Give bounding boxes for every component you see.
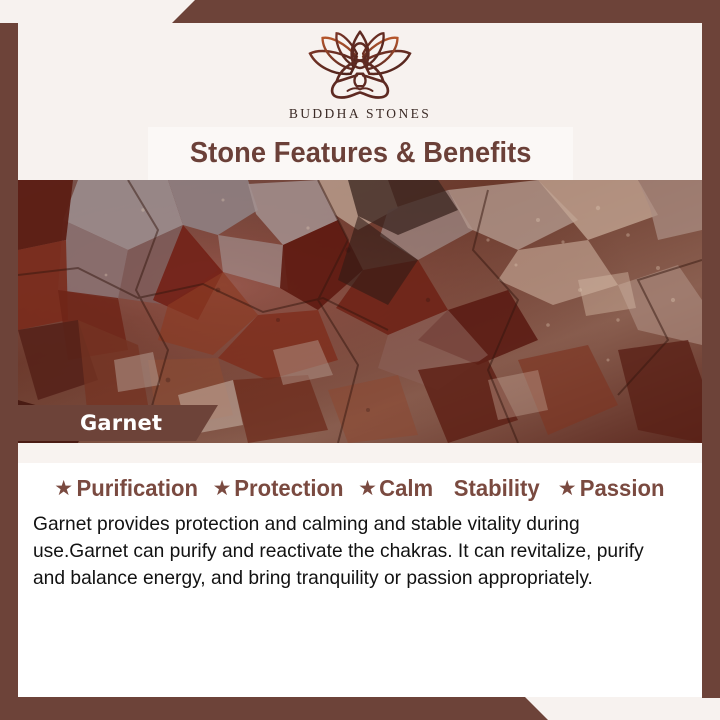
title-banner: Stone Features & Benefits	[148, 127, 573, 180]
star-icon: ★	[213, 478, 232, 499]
bottom-accent-band	[0, 697, 720, 720]
benefit-item: ★ Purification	[54, 475, 200, 502]
benefit-item: ★ Calm	[358, 475, 434, 502]
star-icon: ★	[358, 478, 377, 499]
stone-description: Garnet provides protection and calming a…	[33, 511, 679, 592]
benefit-item: ★ Protection	[213, 475, 347, 502]
left-accent-strip	[0, 23, 18, 698]
benefit-label: Purification	[77, 475, 198, 502]
benefit-item: Stability	[452, 475, 541, 502]
right-accent-strip-upper	[702, 23, 720, 180]
top-accent-band	[0, 0, 720, 23]
content-panel: ★ Purification ★ Protection ★ Calm Stabi…	[18, 443, 702, 697]
benefit-label: Stability	[454, 475, 540, 502]
stone-name-badge: Garnet	[18, 405, 218, 441]
stone-photo	[18, 180, 702, 443]
stone-name: Garnet	[80, 411, 162, 435]
brand-name: BUDDHA STONES	[289, 106, 431, 122]
infographic-page: BUDDHA STONES Stone Features & Benefits	[0, 0, 720, 720]
benefit-label: Calm	[379, 475, 433, 502]
benefit-label: Passion	[579, 475, 664, 502]
brand-logo: BUDDHA STONES	[18, 27, 702, 122]
right-accent-strip-lower	[702, 180, 720, 698]
content-top-divider	[18, 443, 702, 463]
page-title: Stone Features & Benefits	[190, 137, 532, 170]
star-icon: ★	[54, 478, 73, 499]
benefit-item: ★ Passion	[558, 475, 666, 502]
benefit-label: Protection	[235, 475, 344, 502]
star-icon: ★	[558, 478, 577, 499]
garnet-crystal-image	[18, 180, 702, 443]
benefits-list: ★ Purification ★ Protection ★ Calm Stabi…	[18, 475, 702, 502]
lotus-meditation-icon	[280, 27, 440, 105]
